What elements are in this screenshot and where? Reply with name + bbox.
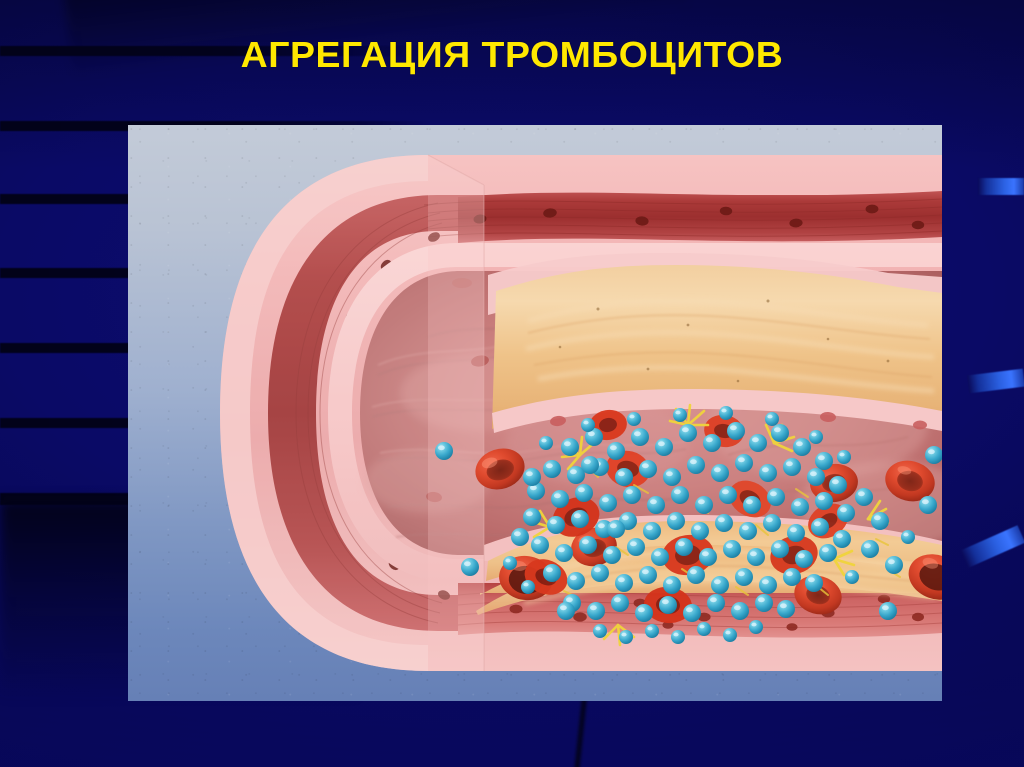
illustration-image xyxy=(128,125,942,701)
slide-title: АГРЕГАЦИЯ ТРОМБОЦИТОВ xyxy=(0,34,1024,76)
artery-cutaway-diagram xyxy=(128,125,942,701)
slide-canvas: АГРЕГАЦИЯ ТРОМБОЦИТОВ xyxy=(0,0,1024,767)
accent-slash-icon xyxy=(978,178,1024,195)
